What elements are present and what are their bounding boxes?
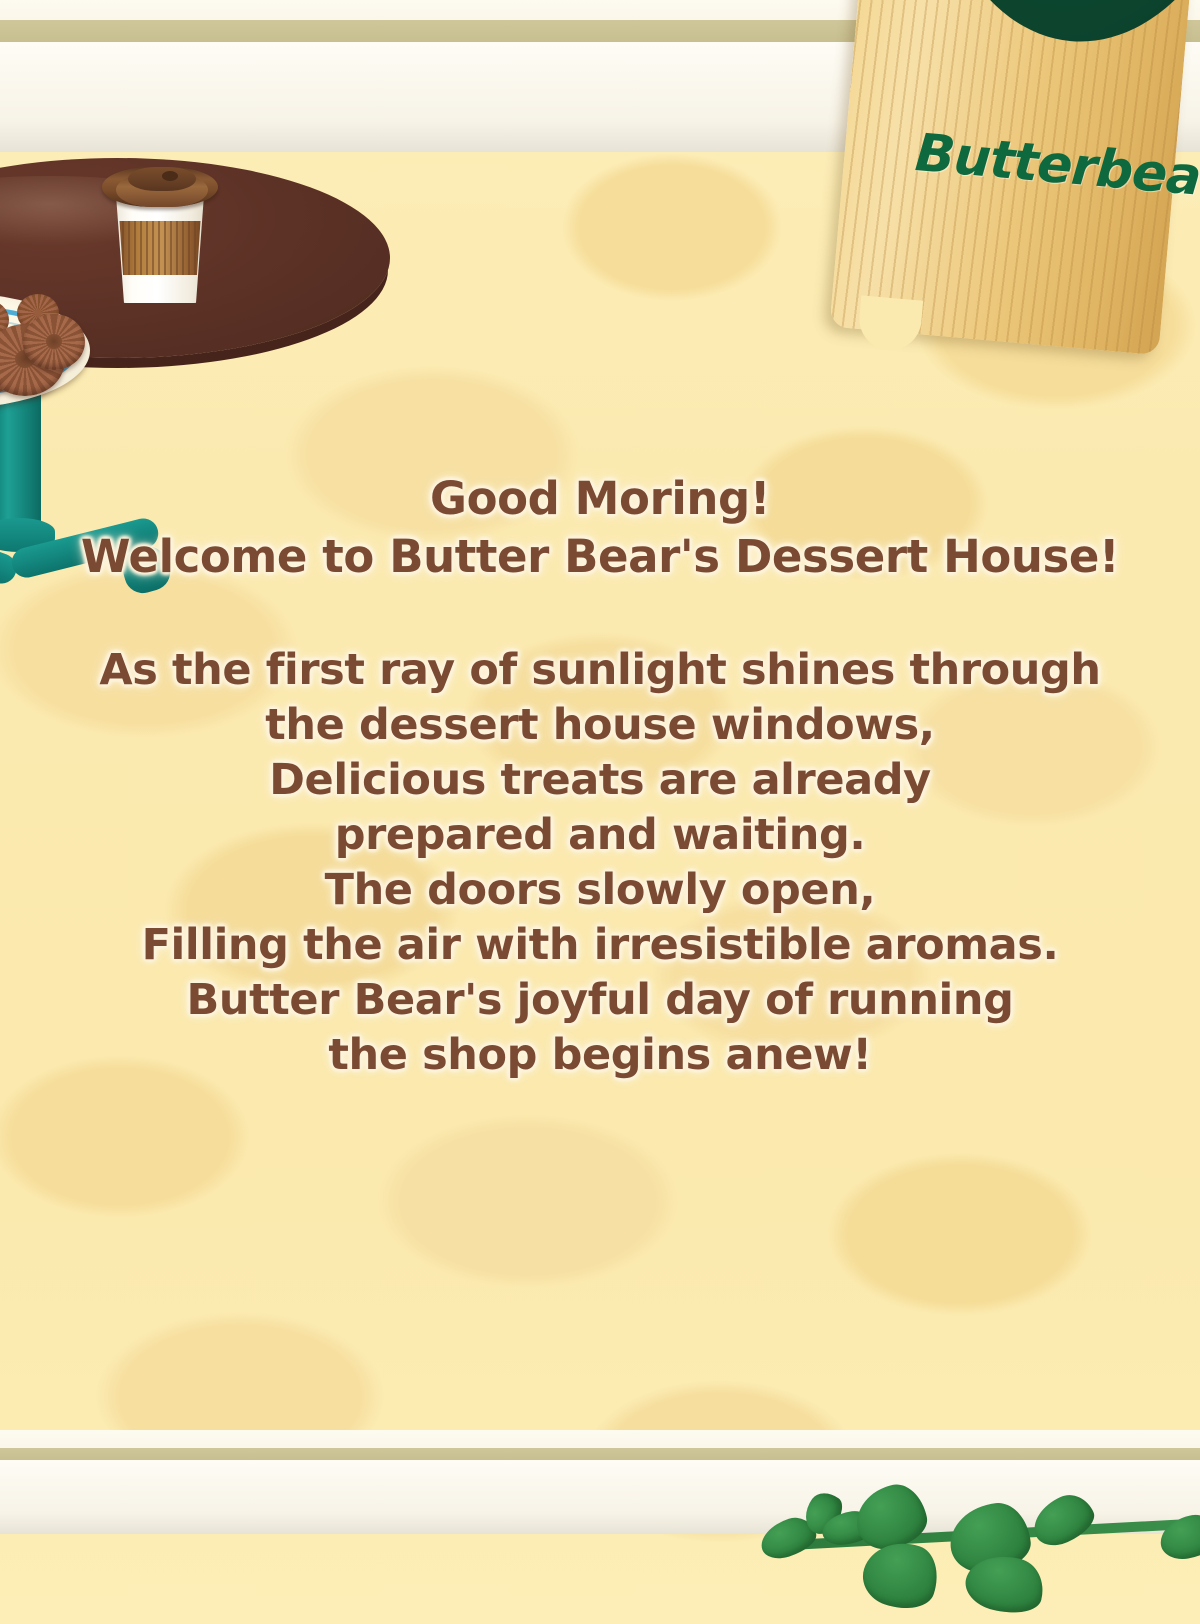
ivy-leaf xyxy=(1026,1487,1101,1552)
cup-lid-hole xyxy=(162,171,178,181)
body-line: Delicious treats are already xyxy=(0,753,1200,808)
sign-base-notch xyxy=(857,295,923,352)
butter-cookie xyxy=(23,314,85,370)
greeting-headline: Good Moring! Welcome to Butter Bear's De… xyxy=(0,470,1200,585)
ivy-vine xyxy=(760,1468,1200,1624)
scene-canvas: Butterbear® Good Moring! Welcome to Butt… xyxy=(0,0,1200,1624)
greeting-copy: Good Moring! Welcome to Butter Bear's De… xyxy=(0,470,1200,1083)
greeting-body: As the first ray of sunlight shines thro… xyxy=(0,643,1200,1083)
headline-line-1: Good Moring! xyxy=(0,470,1200,528)
butterbear-sign: Butterbear® xyxy=(855,0,1200,372)
ivy-leaf xyxy=(1157,1511,1200,1562)
body-line: Butter Bear's joyful day of running xyxy=(0,973,1200,1028)
body-line: The doors slowly open, xyxy=(0,863,1200,918)
body-line: the dessert house windows, xyxy=(0,698,1200,753)
wall-stripe-bottom xyxy=(0,1448,1200,1460)
cup-sleeve xyxy=(116,221,204,275)
wall-upper-bottom xyxy=(0,1430,1200,1448)
body-line: the shop begins anew! xyxy=(0,1028,1200,1083)
headline-line-2: Welcome to Butter Bear's Dessert House! xyxy=(0,528,1200,586)
cup-lid xyxy=(102,167,218,207)
body-line: As the first ray of sunlight shines thro… xyxy=(0,643,1200,698)
coffee-cup xyxy=(100,143,220,303)
cup-lid-top xyxy=(128,167,196,191)
body-line: Filling the air with irresistible aromas… xyxy=(0,918,1200,973)
body-line: prepared and waiting. xyxy=(0,808,1200,863)
